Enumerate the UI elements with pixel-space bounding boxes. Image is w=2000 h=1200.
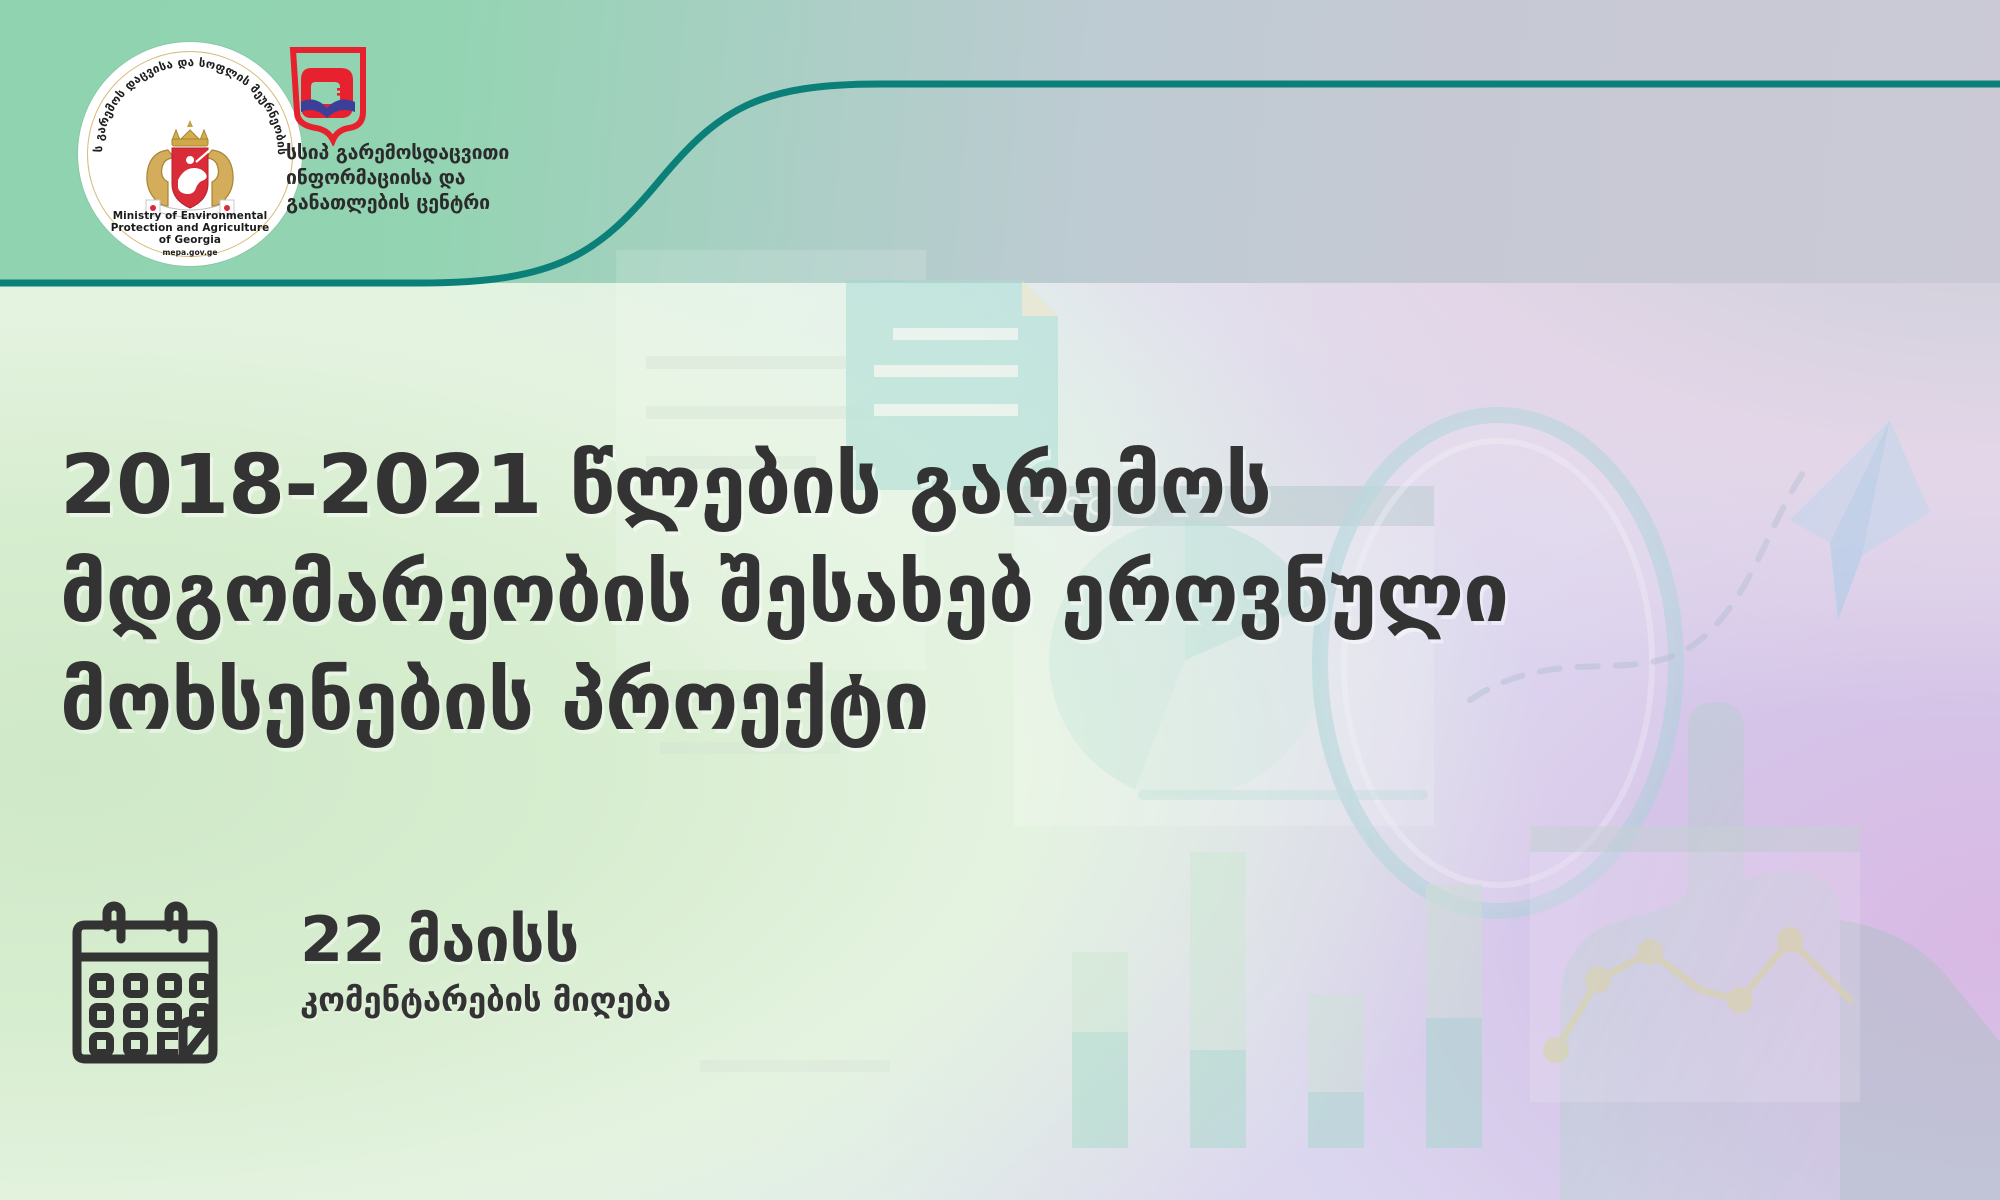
date-text-group: 22 მაისს კომენტარების მიღება <box>300 903 671 1023</box>
logo-row: საქართველოს გარემოს დაცვისა და სოფლის მე… <box>0 0 640 283</box>
decor-line-chart <box>1530 826 1860 1102</box>
center-logo-name-line3: განათლების ცენტრი <box>286 190 586 215</box>
deadline-caption: კომენტარების მიღება <box>300 977 671 1023</box>
deadline-date: 22 მაისს <box>300 903 671 977</box>
georgia-coat-of-arms-icon <box>126 118 254 222</box>
seal-english-name: Ministry of Environmental Protection and… <box>78 210 302 247</box>
calendar-icon <box>55 893 235 1073</box>
page-title-line1: 2018-2021 წლების გარემოს <box>60 432 1620 540</box>
center-logo-name: სსიპ გარემოსდაცვითი ინფორმაციისა და განა… <box>286 140 586 215</box>
seal-english-line3: of Georgia <box>78 234 302 246</box>
center-logo-name-line2: ინფორმაციისა და <box>286 165 586 190</box>
center-logo-name-line1: სსიპ გარემოსდაცვითი <box>286 140 586 165</box>
date-block: 22 მაისს კომენტარების მიღება <box>55 885 855 1105</box>
page-title: 2018-2021 წლების გარემოს მდგომარეობის შე… <box>60 432 1620 756</box>
page-title-line3: მოხსენების პროექტი <box>60 648 1620 756</box>
page-title-line2: მდგომარეობის შესახებ ეროვნული <box>60 540 1620 648</box>
ministry-seal-logo: საქართველოს გარემოს დაცვისა და სოფლის მე… <box>78 42 302 266</box>
poster-canvas: საქართველოს გარემოს დაცვისა და სოფლის მე… <box>0 0 2000 1200</box>
seal-website-url: mepa.gov.ge <box>78 248 302 257</box>
environmental-info-center-shield-logo-icon <box>289 46 367 146</box>
seal-english-line1: Ministry of Environmental <box>78 210 302 222</box>
seal-english-line2: Protection and Agriculture <box>78 222 302 234</box>
